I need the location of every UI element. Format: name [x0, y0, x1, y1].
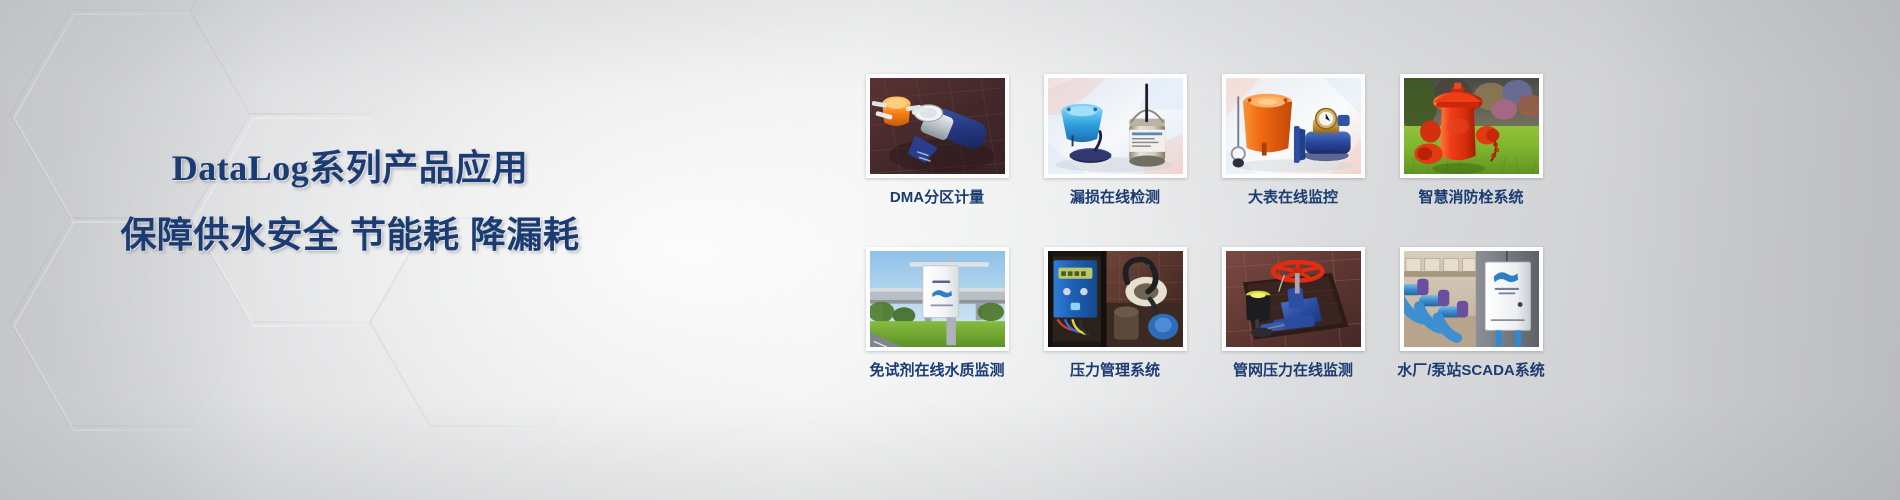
product-card-pipeline-pressure[interactable]: 管网压力在线监测 [1210, 247, 1376, 420]
promo-banner: DataLog系列产品应用 保障供水安全 节能耗 降漏耗 [0, 0, 1900, 500]
product-card-leak-detection[interactable]: 漏损在线检测 [1032, 74, 1198, 247]
product-card-label: 免试剂在线水质监测 [869, 362, 1004, 380]
product-card-label: 大表在线监控 [1248, 189, 1338, 207]
thumbnail-frame [866, 74, 1009, 178]
thumbnail-frame [1400, 74, 1543, 178]
thumbnail-frame [1222, 74, 1365, 178]
headline-line-1: DataLog系列产品应用 [0, 146, 700, 190]
product-card-large-meter[interactable]: 大表在线监控 [1210, 74, 1376, 247]
pressure-management-photo [1048, 251, 1183, 347]
product-card-scada[interactable]: 水厂/泵站SCADA系统 [1388, 247, 1554, 420]
water-quality-station-photo [870, 251, 1005, 347]
product-card-label: 压力管理系统 [1070, 362, 1160, 380]
product-card-dma-metering[interactable]: DMA分区计量 [854, 74, 1020, 247]
product-card-grid: DMA分区计量 [854, 74, 1554, 420]
smart-hydrant-photo [1404, 78, 1539, 174]
leak-detection-photo [1048, 78, 1183, 174]
large-meter-photo [1226, 78, 1361, 174]
scada-pump-station-photo [1404, 251, 1539, 347]
thumbnail-frame [1400, 247, 1543, 351]
product-card-label: 智慧消防栓系统 [1418, 189, 1523, 207]
dma-metering-photo [870, 78, 1005, 174]
headline-line-2: 保障供水安全 节能耗 降漏耗 [0, 212, 700, 258]
thumbnail-frame [1222, 247, 1365, 351]
thumbnail-frame [1044, 247, 1187, 351]
product-card-label: 水厂/泵站SCADA系统 [1397, 362, 1545, 380]
headline-block: DataLog系列产品应用 保障供水安全 节能耗 降漏耗 [0, 146, 700, 258]
product-card-water-quality[interactable]: 免试剂在线水质监测 [854, 247, 1020, 420]
product-card-pressure-management[interactable]: 压力管理系统 [1032, 247, 1198, 420]
thumbnail-frame [866, 247, 1009, 351]
product-card-label: 漏损在线检测 [1070, 189, 1160, 207]
product-card-label: DMA分区计量 [890, 189, 984, 207]
thumbnail-frame [1044, 74, 1187, 178]
pipeline-pressure-photo [1226, 251, 1361, 347]
product-card-smart-hydrant[interactable]: 智慧消防栓系统 [1388, 74, 1554, 247]
product-card-label: 管网压力在线监测 [1233, 362, 1353, 380]
